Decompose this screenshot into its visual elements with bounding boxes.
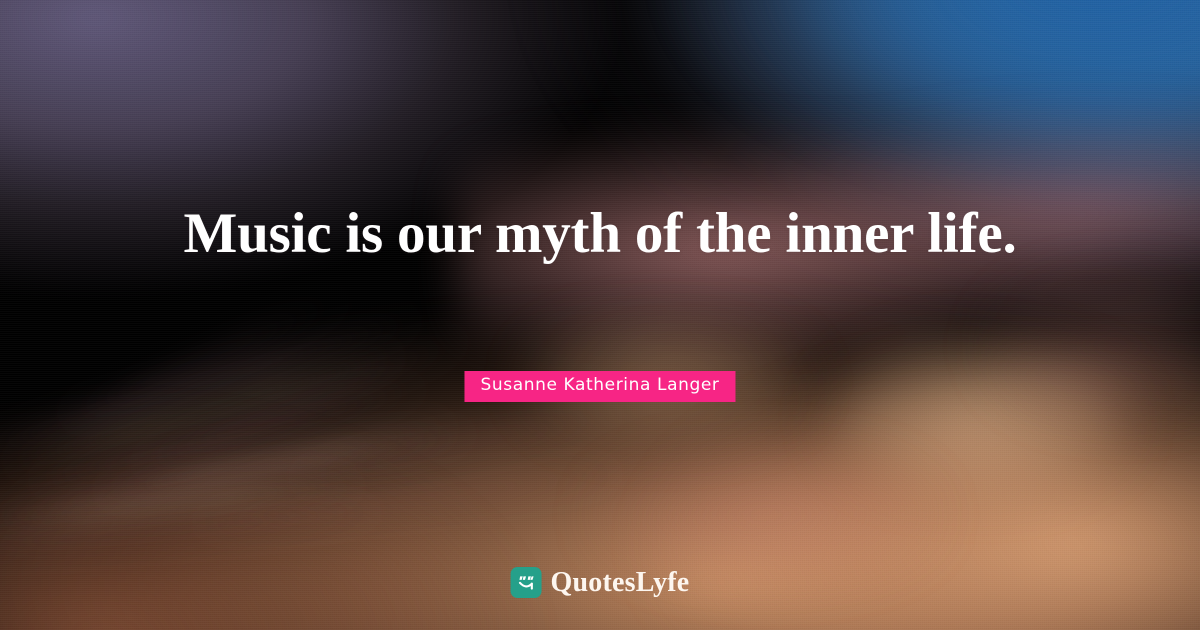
- quoteslyfe-wordmark: QuotesLyfe: [551, 569, 690, 597]
- author-badge[interactable]: Susanne Katherina Langer: [464, 371, 735, 402]
- card-content: Music is our myth of the inner life. Sus…: [0, 0, 1200, 630]
- quote-smiley-icon: [511, 567, 542, 598]
- quote-card: Music is our myth of the inner life. Sus…: [0, 0, 1200, 630]
- quote-block: Music is our myth of the inner life.: [0, 196, 1200, 272]
- quoteslyfe-logo[interactable]: QuotesLyfe: [511, 567, 690, 598]
- quote-text: Music is our myth of the inner life.: [150, 196, 1050, 272]
